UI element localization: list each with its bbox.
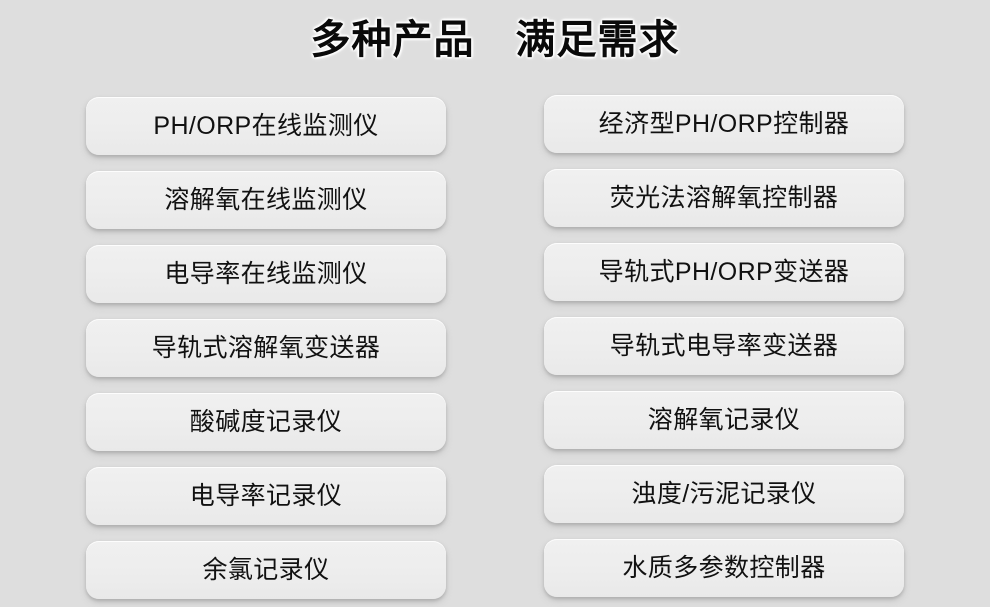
product-button-label: 荧光法溶解氧控制器: [610, 186, 839, 211]
product-button-multiparameter-water-quality-controller[interactable]: 水质多参数控制器: [544, 539, 904, 597]
product-button-conductivity-recorder[interactable]: 电导率记录仪: [86, 467, 446, 525]
product-button-label: 导轨式PH/ORP变送器: [599, 260, 850, 285]
product-button-economic-ph-orp-controller[interactable]: 经济型PH/ORP控制器: [544, 95, 904, 153]
product-button-label: 水质多参数控制器: [622, 556, 825, 581]
product-button-label: 浊度/污泥记录仪: [631, 482, 816, 507]
product-button-turbidity-sludge-recorder[interactable]: 浊度/污泥记录仪: [544, 465, 904, 523]
product-button-conductivity-online-monitor[interactable]: 电导率在线监测仪: [86, 245, 446, 303]
product-column-left: PH/ORP在线监测仪 溶解氧在线监测仪 电导率在线监测仪 导轨式溶解氧变送器 …: [86, 92, 446, 607]
product-button-dissolved-oxygen-recorder[interactable]: 溶解氧记录仪: [544, 391, 904, 449]
product-button-din-rail-ph-orp-transmitter[interactable]: 导轨式PH/ORP变送器: [544, 243, 904, 301]
product-column-right: 经济型PH/ORP控制器 荧光法溶解氧控制器 导轨式PH/ORP变送器 导轨式电…: [544, 92, 904, 607]
product-button-fluorescence-dissolved-oxygen-controller[interactable]: 荧光法溶解氧控制器: [544, 169, 904, 227]
product-button-label: 溶解氧在线监测仪: [164, 188, 367, 213]
product-button-din-rail-dissolved-oxygen-transmitter[interactable]: 导轨式溶解氧变送器: [86, 319, 446, 377]
product-button-label: 溶解氧记录仪: [648, 408, 800, 433]
product-button-label: 酸碱度记录仪: [190, 410, 342, 435]
page-title: 多种产品 满足需求: [0, 0, 990, 72]
product-button-ph-recorder[interactable]: 酸碱度记录仪: [86, 393, 446, 451]
product-button-dissolved-oxygen-online-monitor[interactable]: 溶解氧在线监测仪: [86, 171, 446, 229]
product-button-label: 电导率在线监测仪: [164, 262, 367, 287]
product-button-label: 经济型PH/ORP控制器: [599, 112, 850, 137]
product-button-residual-chlorine-recorder[interactable]: 余氯记录仪: [86, 541, 446, 599]
product-button-din-rail-conductivity-transmitter[interactable]: 导轨式电导率变送器: [544, 317, 904, 375]
product-button-label: 余氯记录仪: [202, 558, 329, 583]
product-button-label: 电导率记录仪: [190, 484, 342, 509]
product-button-label: 导轨式电导率变送器: [610, 334, 839, 359]
product-grid: PH/ORP在线监测仪 溶解氧在线监测仪 电导率在线监测仪 导轨式溶解氧变送器 …: [0, 92, 990, 607]
product-button-ph-orp-online-monitor[interactable]: PH/ORP在线监测仪: [86, 97, 446, 155]
product-button-label: 导轨式溶解氧变送器: [152, 336, 381, 361]
product-button-label: PH/ORP在线监测仪: [153, 114, 378, 139]
